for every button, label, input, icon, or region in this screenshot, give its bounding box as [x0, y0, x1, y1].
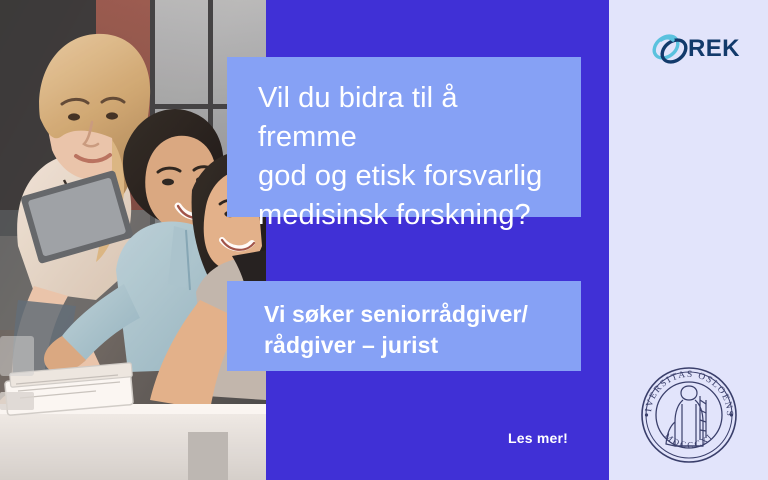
read-more-link[interactable]: Les mer! [380, 430, 568, 446]
job-title-box: Vi søker seniorrådgiver/ rådgiver – juri… [227, 281, 581, 371]
headline-box: Vil du bidra til å fremme god og etisk f… [227, 57, 581, 217]
uio-seal: UNIVERSITAS OSLOENSIS MDCCCXI [634, 360, 744, 470]
headline-text: Vil du bidra til å fremme god og etisk f… [258, 79, 553, 235]
rek-interlocking-rings-icon [648, 27, 692, 71]
uio-seal-icon: UNIVERSITAS OSLOENSIS MDCCCXI [634, 360, 744, 470]
campaign-banner: Vil du bidra til å fremme god og etisk f… [0, 0, 768, 480]
rek-wordmark: REK [688, 35, 740, 63]
uio-seal-year-text: MDCCCXI [663, 431, 716, 450]
job-title-text: Vi søker seniorrådgiver/ rådgiver – juri… [264, 299, 555, 361]
rek-logo[interactable]: REK [648, 26, 738, 72]
svg-text:MDCCCXI: MDCCCXI [663, 431, 716, 450]
